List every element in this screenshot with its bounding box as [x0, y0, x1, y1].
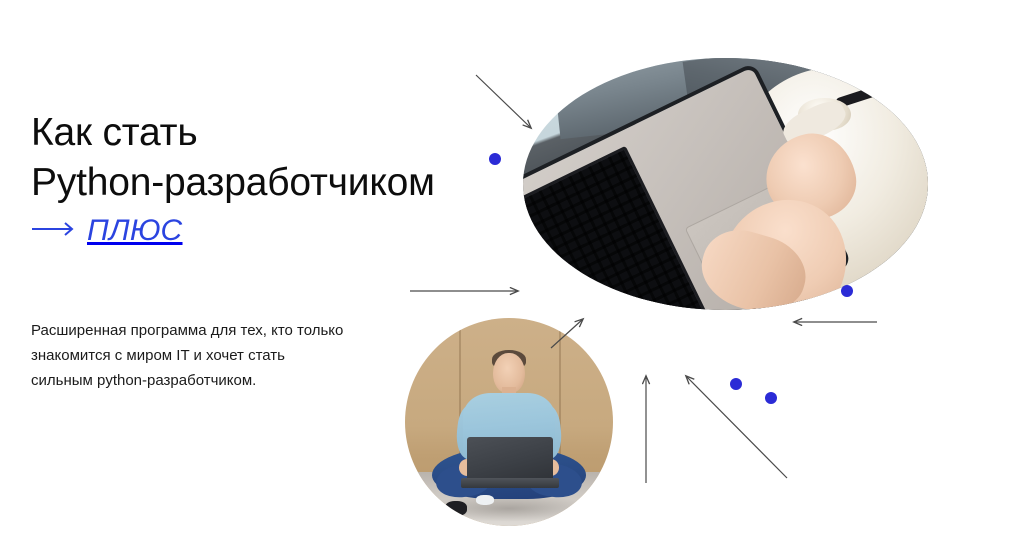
page-title: Как стать Python-разработчиком [31, 108, 501, 208]
accent-dot-4 [765, 392, 777, 404]
photo-laptop-keyboard [523, 145, 707, 310]
photo-person-laptop-base [461, 478, 559, 487]
photo-person-sock [476, 495, 495, 505]
photo-person-shoe [445, 501, 468, 516]
long-arrow-right-icon [31, 220, 76, 243]
photo-person-laptop-screen [467, 437, 552, 483]
accent-dot-3 [730, 378, 742, 390]
plus-link-label: ПЛЮС [87, 214, 183, 248]
hero-description: Расширенная программа для тех, кто тольк… [31, 318, 431, 393]
photo-student-laptop-image [405, 318, 613, 526]
photo-laptop-hands-image [523, 58, 928, 310]
photo-student-laptop [405, 318, 613, 526]
hero-section: Как стать Python-разработчиком ПЛЮС Расш… [0, 0, 1020, 533]
hero-text-block: Как стать Python-разработчиком ПЛЮС [31, 108, 501, 248]
photo-laptop-hands [523, 58, 928, 310]
plus-link[interactable]: ПЛЮС [31, 214, 183, 248]
arrow-up-left-diagonal [686, 376, 787, 478]
